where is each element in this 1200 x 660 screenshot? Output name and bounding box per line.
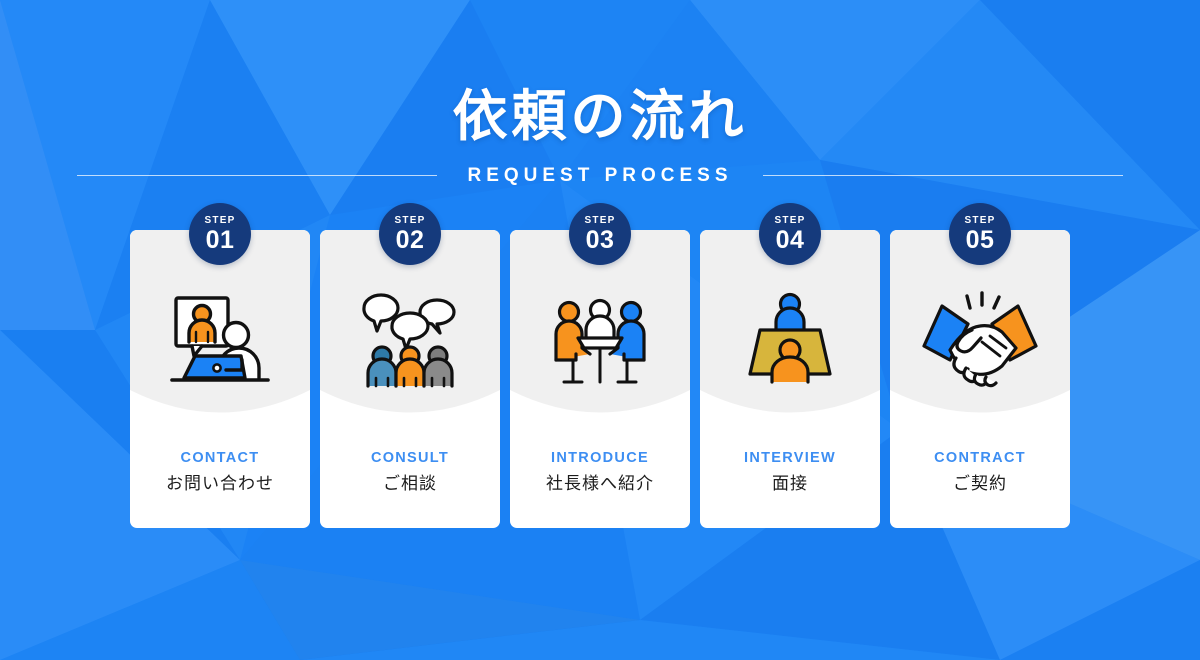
step-badge-05-word: STEP	[965, 216, 996, 226]
step-card-04-surface: INTERVIEW 面接	[700, 230, 880, 528]
step-badge-05-number: 05	[966, 228, 995, 253]
step-card-03-labels: INTRODUCE 社長様へ紹介	[510, 451, 690, 494]
step-card-02-surface: CONSULT ご相談	[320, 230, 500, 528]
step-card-01[interactable]: CONTACT お問い合わせ STEP 01	[130, 230, 310, 528]
interview-desk-icon	[700, 282, 880, 398]
subtitle-row: REQUEST PROCESS	[0, 165, 1200, 187]
step-card-02[interactable]: CONSULT ご相談 STEP 02	[320, 230, 500, 528]
step-badge-04: STEP 04	[759, 203, 821, 265]
step-badge-02-word: STEP	[395, 216, 426, 226]
step-card-05-labels: CONTRACT ご契約	[890, 451, 1070, 494]
step-card-02-label-ja: ご相談	[320, 475, 500, 494]
step-badge-04-word: STEP	[775, 216, 806, 226]
step-card-01-label-en: CONTACT	[130, 451, 310, 466]
subtitle-rule-right	[763, 175, 1123, 176]
step-badge-03: STEP 03	[569, 203, 631, 265]
step-card-03-label-en: INTRODUCE	[510, 451, 690, 466]
page-title: 依頼の流れ	[0, 86, 1200, 147]
step-badge-02: STEP 02	[379, 203, 441, 265]
infographic-stage: 依頼の流れ REQUEST PROCESS	[0, 0, 1200, 660]
step-card-04[interactable]: INTERVIEW 面接 STEP 04	[700, 230, 880, 528]
step-card-05-label-ja: ご契約	[890, 475, 1070, 494]
step-badge-04-number: 04	[776, 228, 805, 253]
step-card-03-surface: INTRODUCE 社長様へ紹介	[510, 230, 690, 528]
step-badge-03-word: STEP	[585, 216, 616, 226]
step-card-05-label-en: CONTRACT	[890, 451, 1070, 466]
meeting-table-icon	[510, 282, 690, 398]
page-header: 依頼の流れ REQUEST PROCESS	[0, 86, 1200, 187]
step-cards-row: CONTACT お問い合わせ STEP 01	[130, 230, 1070, 528]
video-call-laptop-icon	[130, 282, 310, 398]
step-card-01-label-ja: お問い合わせ	[130, 475, 310, 494]
step-badge-01: STEP 01	[189, 203, 251, 265]
step-card-02-labels: CONSULT ご相談	[320, 451, 500, 494]
step-badge-03-number: 03	[586, 228, 615, 253]
page-subtitle: REQUEST PROCESS	[467, 165, 732, 187]
step-card-01-surface: CONTACT お問い合わせ	[130, 230, 310, 528]
step-badge-02-number: 02	[396, 228, 425, 253]
step-badge-01-number: 01	[206, 228, 235, 253]
step-card-05[interactable]: CONTRACT ご契約 STEP 05	[890, 230, 1070, 528]
step-badge-05: STEP 05	[949, 203, 1011, 265]
handshake-icon	[890, 282, 1070, 398]
step-card-04-labels: INTERVIEW 面接	[700, 451, 880, 494]
subtitle-rule-left	[77, 175, 437, 176]
people-speech-bubbles-icon	[320, 282, 500, 398]
step-card-04-label-en: INTERVIEW	[700, 451, 880, 466]
step-card-03[interactable]: INTRODUCE 社長様へ紹介 STEP 03	[510, 230, 690, 528]
step-card-05-surface: CONTRACT ご契約	[890, 230, 1070, 528]
step-card-04-label-ja: 面接	[700, 475, 880, 494]
step-badge-01-word: STEP	[205, 216, 236, 226]
step-card-01-labels: CONTACT お問い合わせ	[130, 451, 310, 494]
step-card-03-label-ja: 社長様へ紹介	[510, 475, 690, 494]
step-card-02-label-en: CONSULT	[320, 451, 500, 466]
